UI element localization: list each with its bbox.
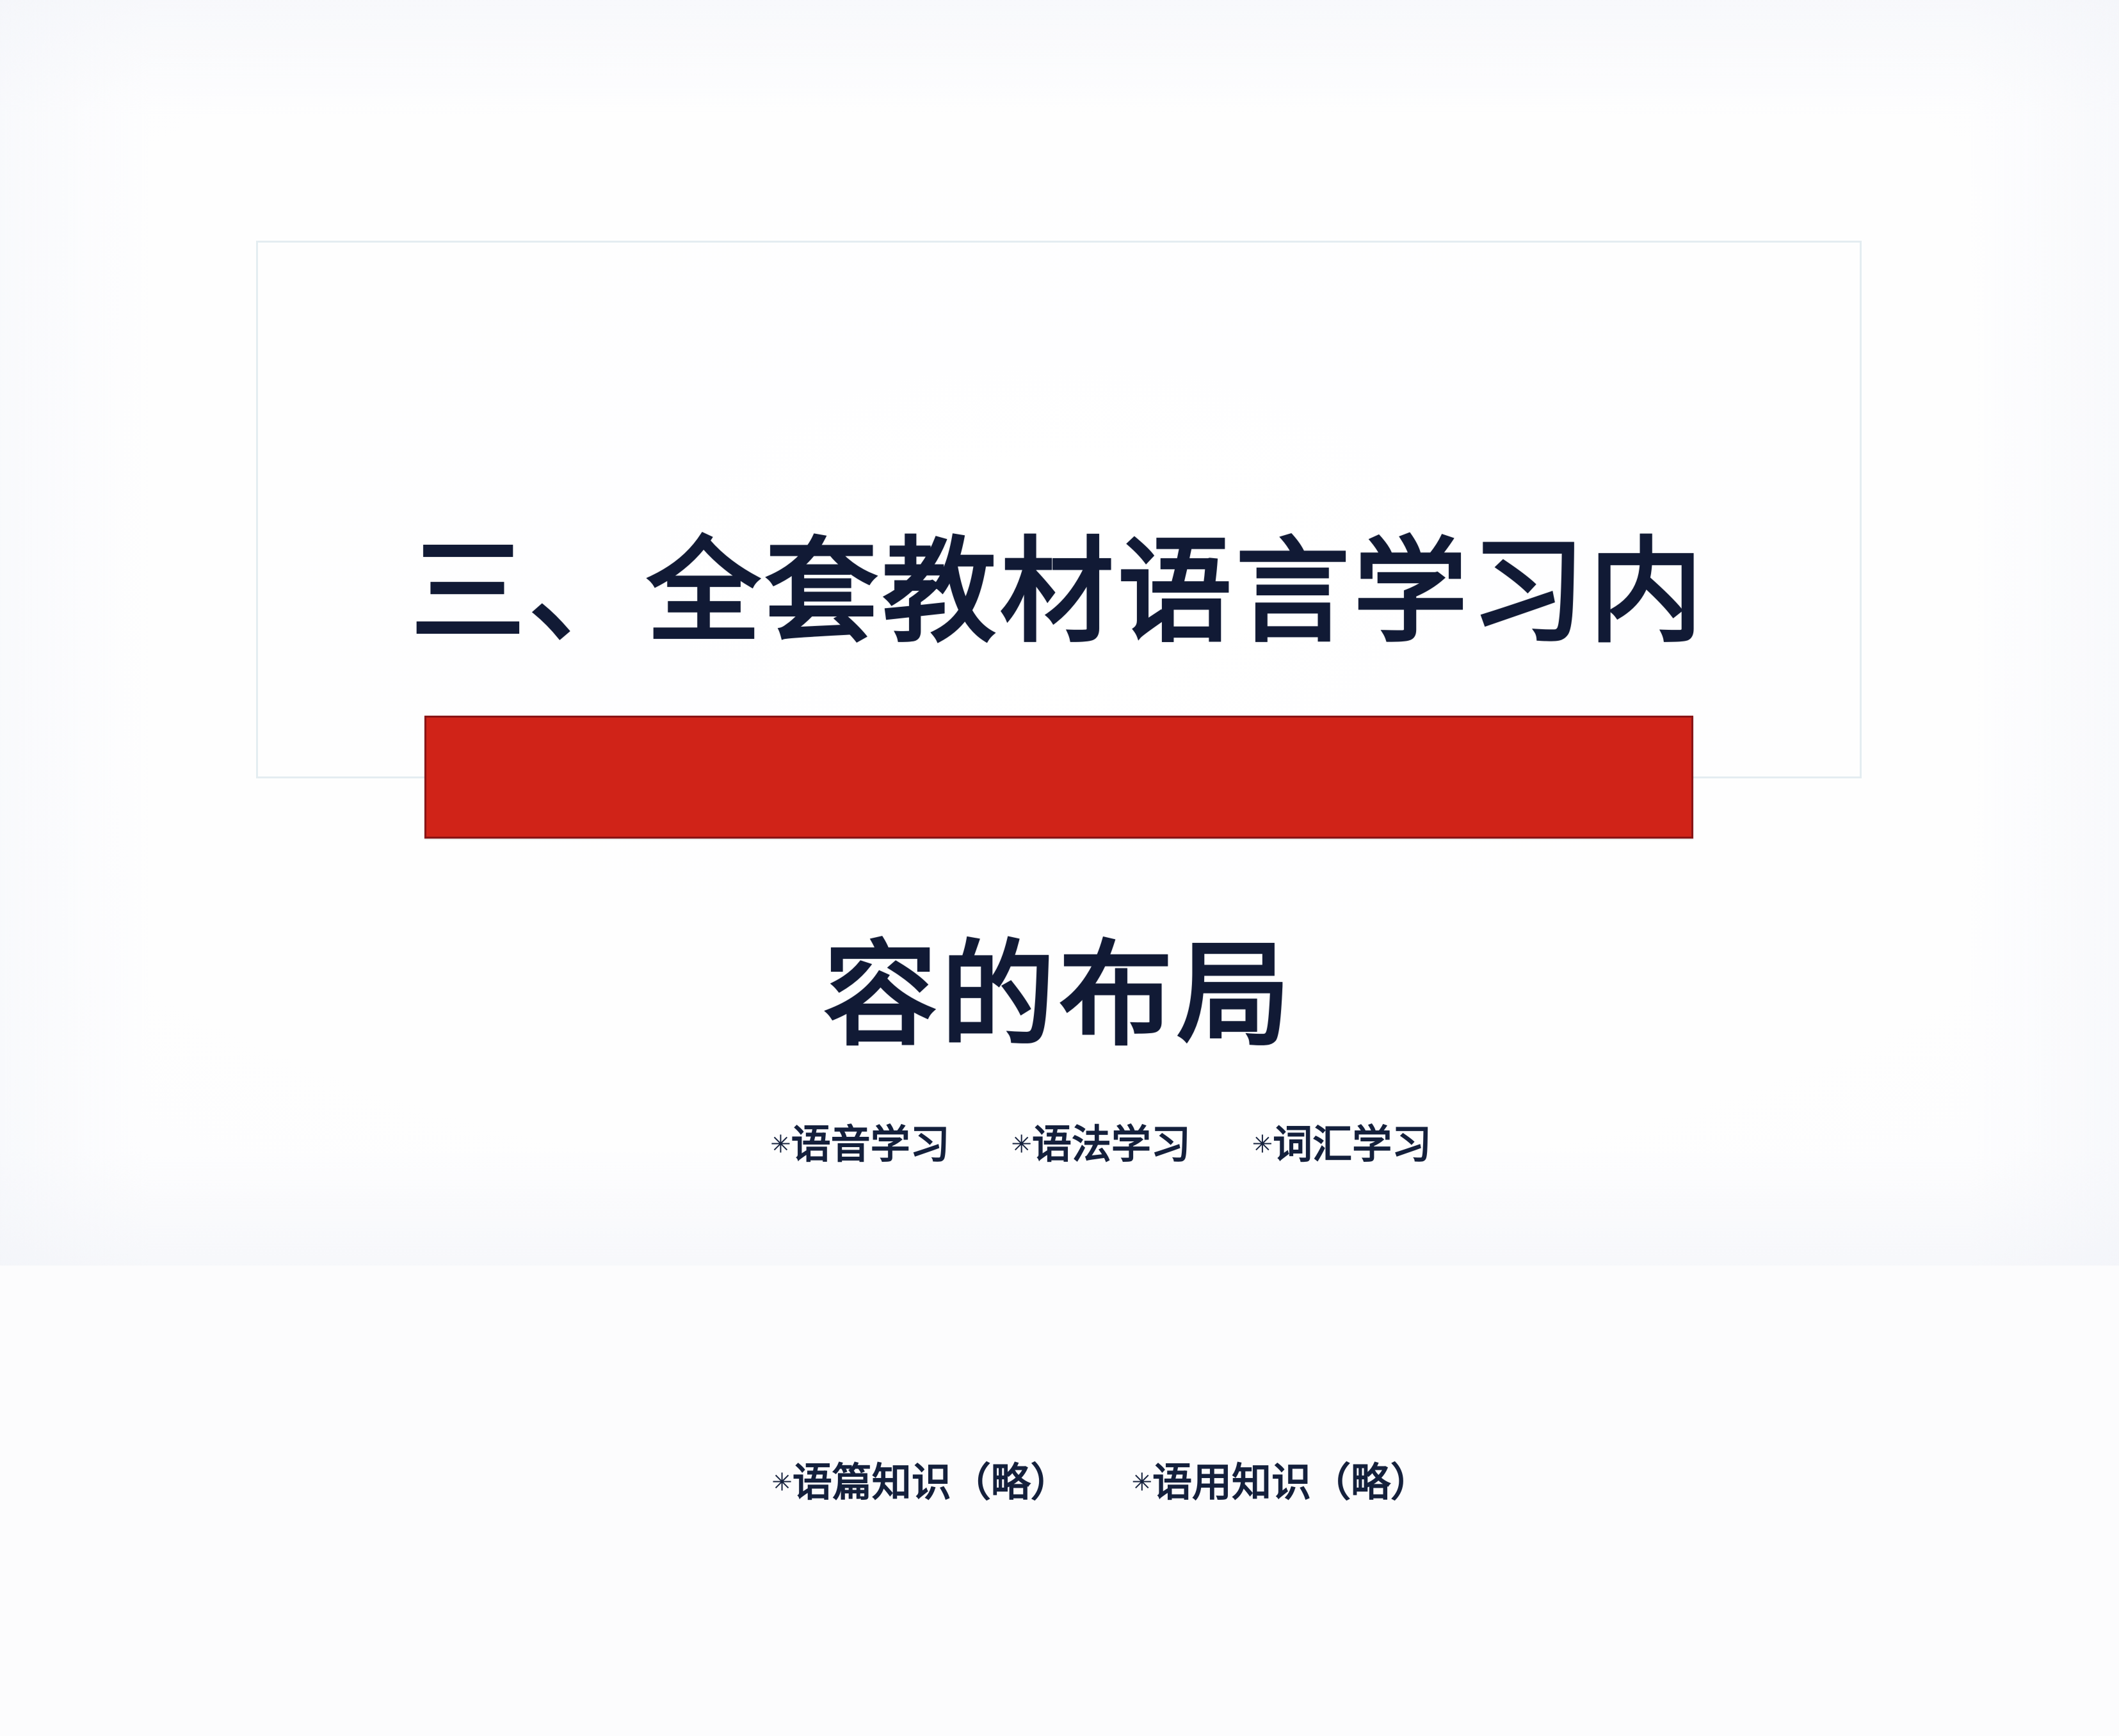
asterisk-icon: ✳ [1011, 1130, 1032, 1159]
bullet-row-2: ✳语篇知识（略）✳语用知识（略） [0, 1398, 2119, 1567]
bullet-item-grammar: 语法学习 [1032, 1121, 1191, 1168]
bullet-row-1: ✳语音学习✳语法学习✳词汇学习 [0, 1060, 2119, 1229]
bullet-item-pragmatics: 语用知识（略） [1152, 1459, 1430, 1506]
asterisk-icon: ✳ [1252, 1130, 1273, 1159]
bullet-item-vocabulary: 词汇学习 [1273, 1121, 1431, 1168]
slide-canvas: 三、全套教材语言学习内 容的布局 ✳语音学习✳语法学习✳词汇学习 ✳语篇知识（略… [0, 0, 2119, 1266]
bullet-item-phonetics: 语音学习 [791, 1121, 950, 1168]
bullet-list: ✳语音学习✳语法学习✳词汇学习 ✳语篇知识（略）✳语用知识（略） [0, 891, 2119, 1736]
asterisk-icon: ✳ [1132, 1468, 1152, 1497]
asterisk-icon: ✳ [770, 1130, 791, 1159]
asterisk-icon: ✳ [772, 1468, 793, 1497]
bullet-item-discourse: 语篇知识（略） [793, 1459, 1070, 1506]
slide-title-line-1: 三、全套教材语言学习内 [256, 525, 1862, 659]
